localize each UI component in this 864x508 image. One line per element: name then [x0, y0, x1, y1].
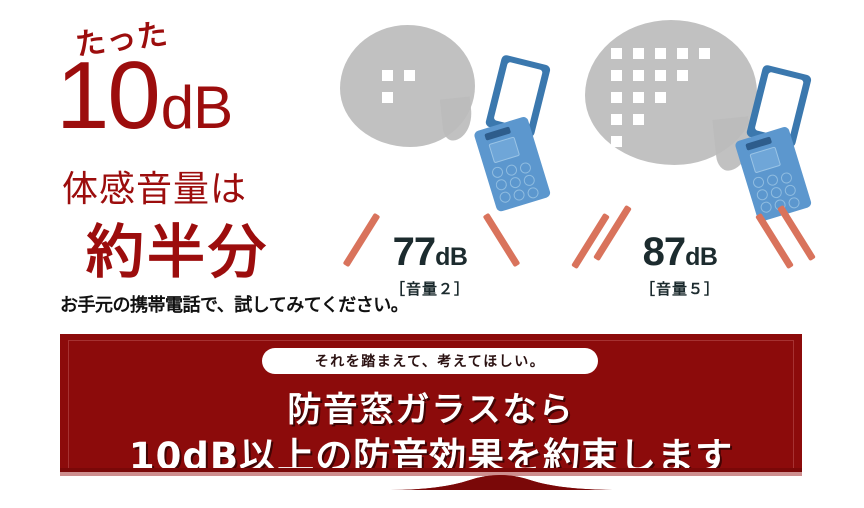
headline-emphasis: 約半分 — [86, 205, 269, 289]
volume-square — [655, 70, 666, 81]
volume-square — [633, 114, 644, 125]
volume-square — [633, 70, 644, 81]
volume-square — [677, 48, 688, 59]
volume-square — [611, 114, 622, 125]
measurement-label-77db: 77dB ［音量２］ — [330, 232, 530, 299]
measurement-value-row: 87dB — [580, 232, 780, 272]
headline-value-row: 10 dB — [56, 50, 232, 141]
volume-square — [382, 92, 393, 103]
banner-pill-text: それを踏まえて、考えてほしい。 — [315, 351, 545, 371]
volume-square — [611, 70, 622, 81]
measurement-label-87db: 87dB ［音量５］ — [580, 232, 780, 299]
volume-square — [611, 92, 622, 103]
banner-wave-edge-icon — [60, 468, 802, 490]
measurement-value: 77 — [393, 230, 436, 274]
measurement-unit: dB — [685, 243, 717, 271]
phone-subscreen — [488, 136, 520, 163]
headline-value: 10 — [56, 50, 159, 141]
volume-square — [382, 70, 393, 81]
measurement-volume-label: ［音量５］ — [580, 278, 780, 299]
volume-square — [655, 92, 666, 103]
flip-phone-icon — [472, 58, 536, 208]
phone-subscreen — [749, 146, 781, 173]
infographic-canvas: たった 10 dB 体感音量は 約半分 お手元の携帯電話で、試してみてください。 — [0, 0, 864, 508]
volume-square — [699, 48, 710, 59]
volume-square — [677, 70, 688, 81]
promo-banner: それを踏まえて、考えてほしい。 防音窓ガラスなら 10dB以上の防音効果を約束し… — [60, 334, 802, 490]
flip-phone-icon — [733, 68, 797, 218]
volume-square — [611, 48, 622, 59]
volume-square — [633, 48, 644, 59]
measurement-volume-label: ［音量２］ — [330, 278, 530, 299]
volume-square — [404, 70, 415, 81]
volume-square — [633, 92, 644, 103]
volume-square — [655, 48, 666, 59]
measurement-unit: dB — [435, 243, 467, 271]
banner-pill-badge: それを踏まえて、考えてほしい。 — [262, 348, 598, 374]
speech-bubble-tail-icon — [440, 97, 474, 142]
banner-headline-line1: 防音窓ガラスなら — [60, 382, 802, 431]
headline-unit: dB — [161, 78, 232, 138]
phone-keypad — [491, 155, 549, 207]
measurement-value-row: 77dB — [330, 232, 530, 272]
measurement-value: 87 — [643, 230, 686, 274]
volume-square — [611, 136, 622, 147]
headline-block: たった 10 dB 体感音量は 約半分 お手元の携帯電話で、試してみてください。 — [0, 0, 360, 330]
